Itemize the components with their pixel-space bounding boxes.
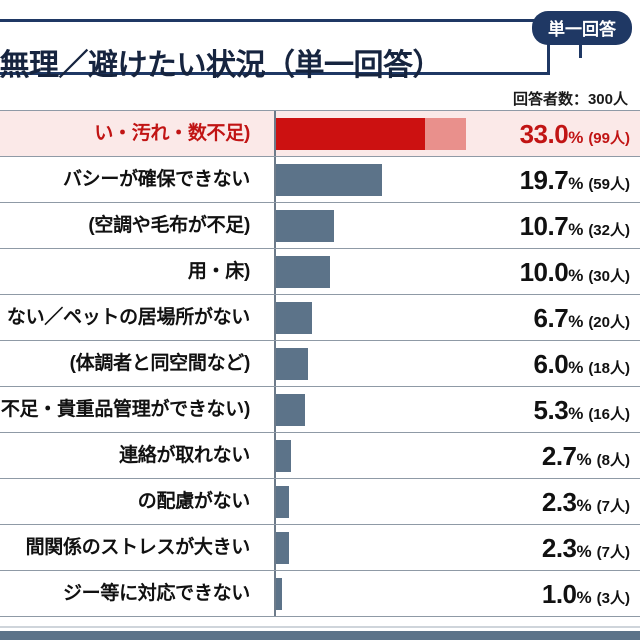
row-value: 6.0%(18人) [534,341,630,386]
bar-container [276,210,334,242]
bar [276,256,330,288]
bar [276,302,312,334]
row-label: バシーが確保できない [0,157,258,202]
value-percent: 6.0 [534,349,569,379]
table-row: 間関係のストレスが大きい2.3%(7人) [0,525,640,571]
page-title: は無理／避けたい状況（単一回答） [0,40,516,84]
row-label: の不足・貴重品管理ができない) [0,387,258,432]
percent-sign: % [568,404,583,423]
bottom-rule [0,626,640,628]
row-value: 19.7%(59人) [520,157,630,202]
bar [276,164,382,196]
bar-container [276,532,289,564]
value-percent: 19.7 [520,165,569,195]
row-value: 6.7%(20人) [534,295,630,340]
row-label: の配慮がない [0,479,258,524]
bar-container [276,348,308,380]
percent-sign: % [568,128,583,147]
title-box: は無理／避けたい状況（単一回答） [0,19,550,75]
row-value: 10.7%(32人) [520,203,630,248]
bar-extension [425,118,466,150]
bar [276,118,425,150]
table-row: バシーが確保できない19.7%(59人) [0,157,640,203]
value-count: (7人) [597,498,630,515]
row-value: 2.3%(7人) [542,525,630,570]
row-label: い・汚れ・数不足) [0,111,258,156]
row-label: 用・床) [0,249,258,294]
bar [276,210,334,242]
table-row: ない／ペットの居場所がない6.7%(20人) [0,295,640,341]
chart-header: は無理／避けたい状況（単一回答） 単一回答 [0,7,640,83]
bar-container [276,440,291,472]
value-count: (16人) [588,406,630,423]
row-label: ない／ペットの居場所がない [0,295,258,340]
row-value: 5.3%(16人) [534,387,630,432]
percent-sign: % [577,496,592,515]
value-count: (99人) [588,130,630,147]
value-count: (20人) [588,314,630,331]
percent-sign: % [577,542,592,561]
top-gutter [0,0,640,7]
bar-container [276,256,330,288]
value-percent: 10.7 [520,211,569,241]
bar-container [276,118,466,150]
value-percent: 33.0 [520,119,569,149]
bar-container [276,164,382,196]
percent-sign: % [568,220,583,239]
value-count: (8人) [597,452,630,469]
bar [276,348,308,380]
row-label: (体調者と同空間など) [0,341,258,386]
percent-sign: % [577,450,592,469]
table-row: (空調や毛布が不足)10.7%(32人) [0,203,640,249]
row-label: (空調や毛布が不足) [0,203,258,248]
bar-container [276,486,289,518]
table-row: の配慮がない2.3%(7人) [0,479,640,525]
table-row: 用・床)10.0%(30人) [0,249,640,295]
value-count: (18人) [588,360,630,377]
row-value: 33.0%(99人) [520,111,630,156]
bar-container [276,302,312,334]
percent-sign: % [568,358,583,377]
value-count: (30人) [588,268,630,285]
bar [276,394,305,426]
table-row: の不足・貴重品管理ができない)5.3%(16人) [0,387,640,433]
bar-container [276,394,305,426]
value-percent: 2.3 [542,533,577,563]
row-value: 10.0%(30人) [520,249,630,294]
value-percent: 2.7 [542,441,577,471]
percent-sign: % [568,266,583,285]
table-row: 連絡が取れない2.7%(8人) [0,433,640,479]
bar-chart: い・汚れ・数不足)33.0%(99人)バシーが確保できない19.7%(59人)(… [0,110,640,617]
row-label: 間関係のストレスが大きい [0,525,258,570]
table-row: い・汚れ・数不足)33.0%(99人) [0,111,640,157]
percent-sign: % [568,174,583,193]
chart-page: は無理／避けたい状況（単一回答） 単一回答 回答者数：300人 い・汚れ・数不足… [0,0,640,640]
row-value: 2.7%(8人) [542,433,630,478]
row-label: 連絡が取れない [0,433,258,478]
status-badge: 単一回答 [532,11,632,45]
bar [276,440,291,472]
value-count: (7人) [597,544,630,561]
bottom-accent-bar [0,631,640,640]
value-percent: 2.3 [542,487,577,517]
percent-sign: % [568,312,583,331]
value-percent: 10.0 [520,257,569,287]
table-row: (体調者と同空間など)6.0%(18人) [0,341,640,387]
value-count: (59人) [588,176,630,193]
row-value: 2.3%(7人) [542,479,630,524]
value-percent: 6.7 [534,303,569,333]
bar [276,532,289,564]
footer-note: 選択) [0,578,640,608]
bar [276,486,289,518]
value-count: (32人) [588,222,630,239]
respondent-count: 回答者数：300人 [513,88,628,109]
value-percent: 5.3 [534,395,569,425]
